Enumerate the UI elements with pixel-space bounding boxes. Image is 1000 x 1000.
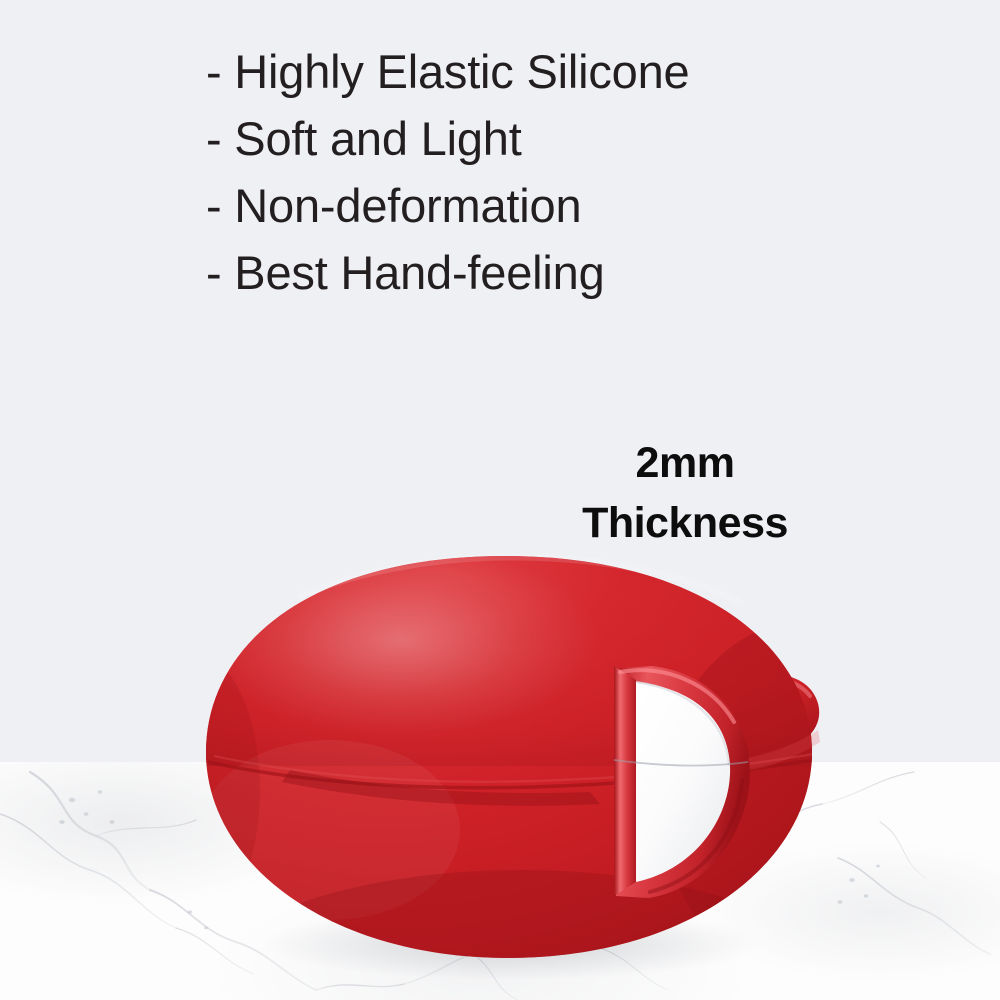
product-feature-image: - Highly Elastic Silicone - Soft and Lig…: [0, 0, 1000, 1000]
wall-thickness-band: [614, 666, 636, 896]
case-body: [120, 540, 960, 1000]
body-highlight: [200, 544, 600, 736]
product-illustration: [0, 0, 1000, 1000]
body-shade-left: [120, 650, 260, 930]
